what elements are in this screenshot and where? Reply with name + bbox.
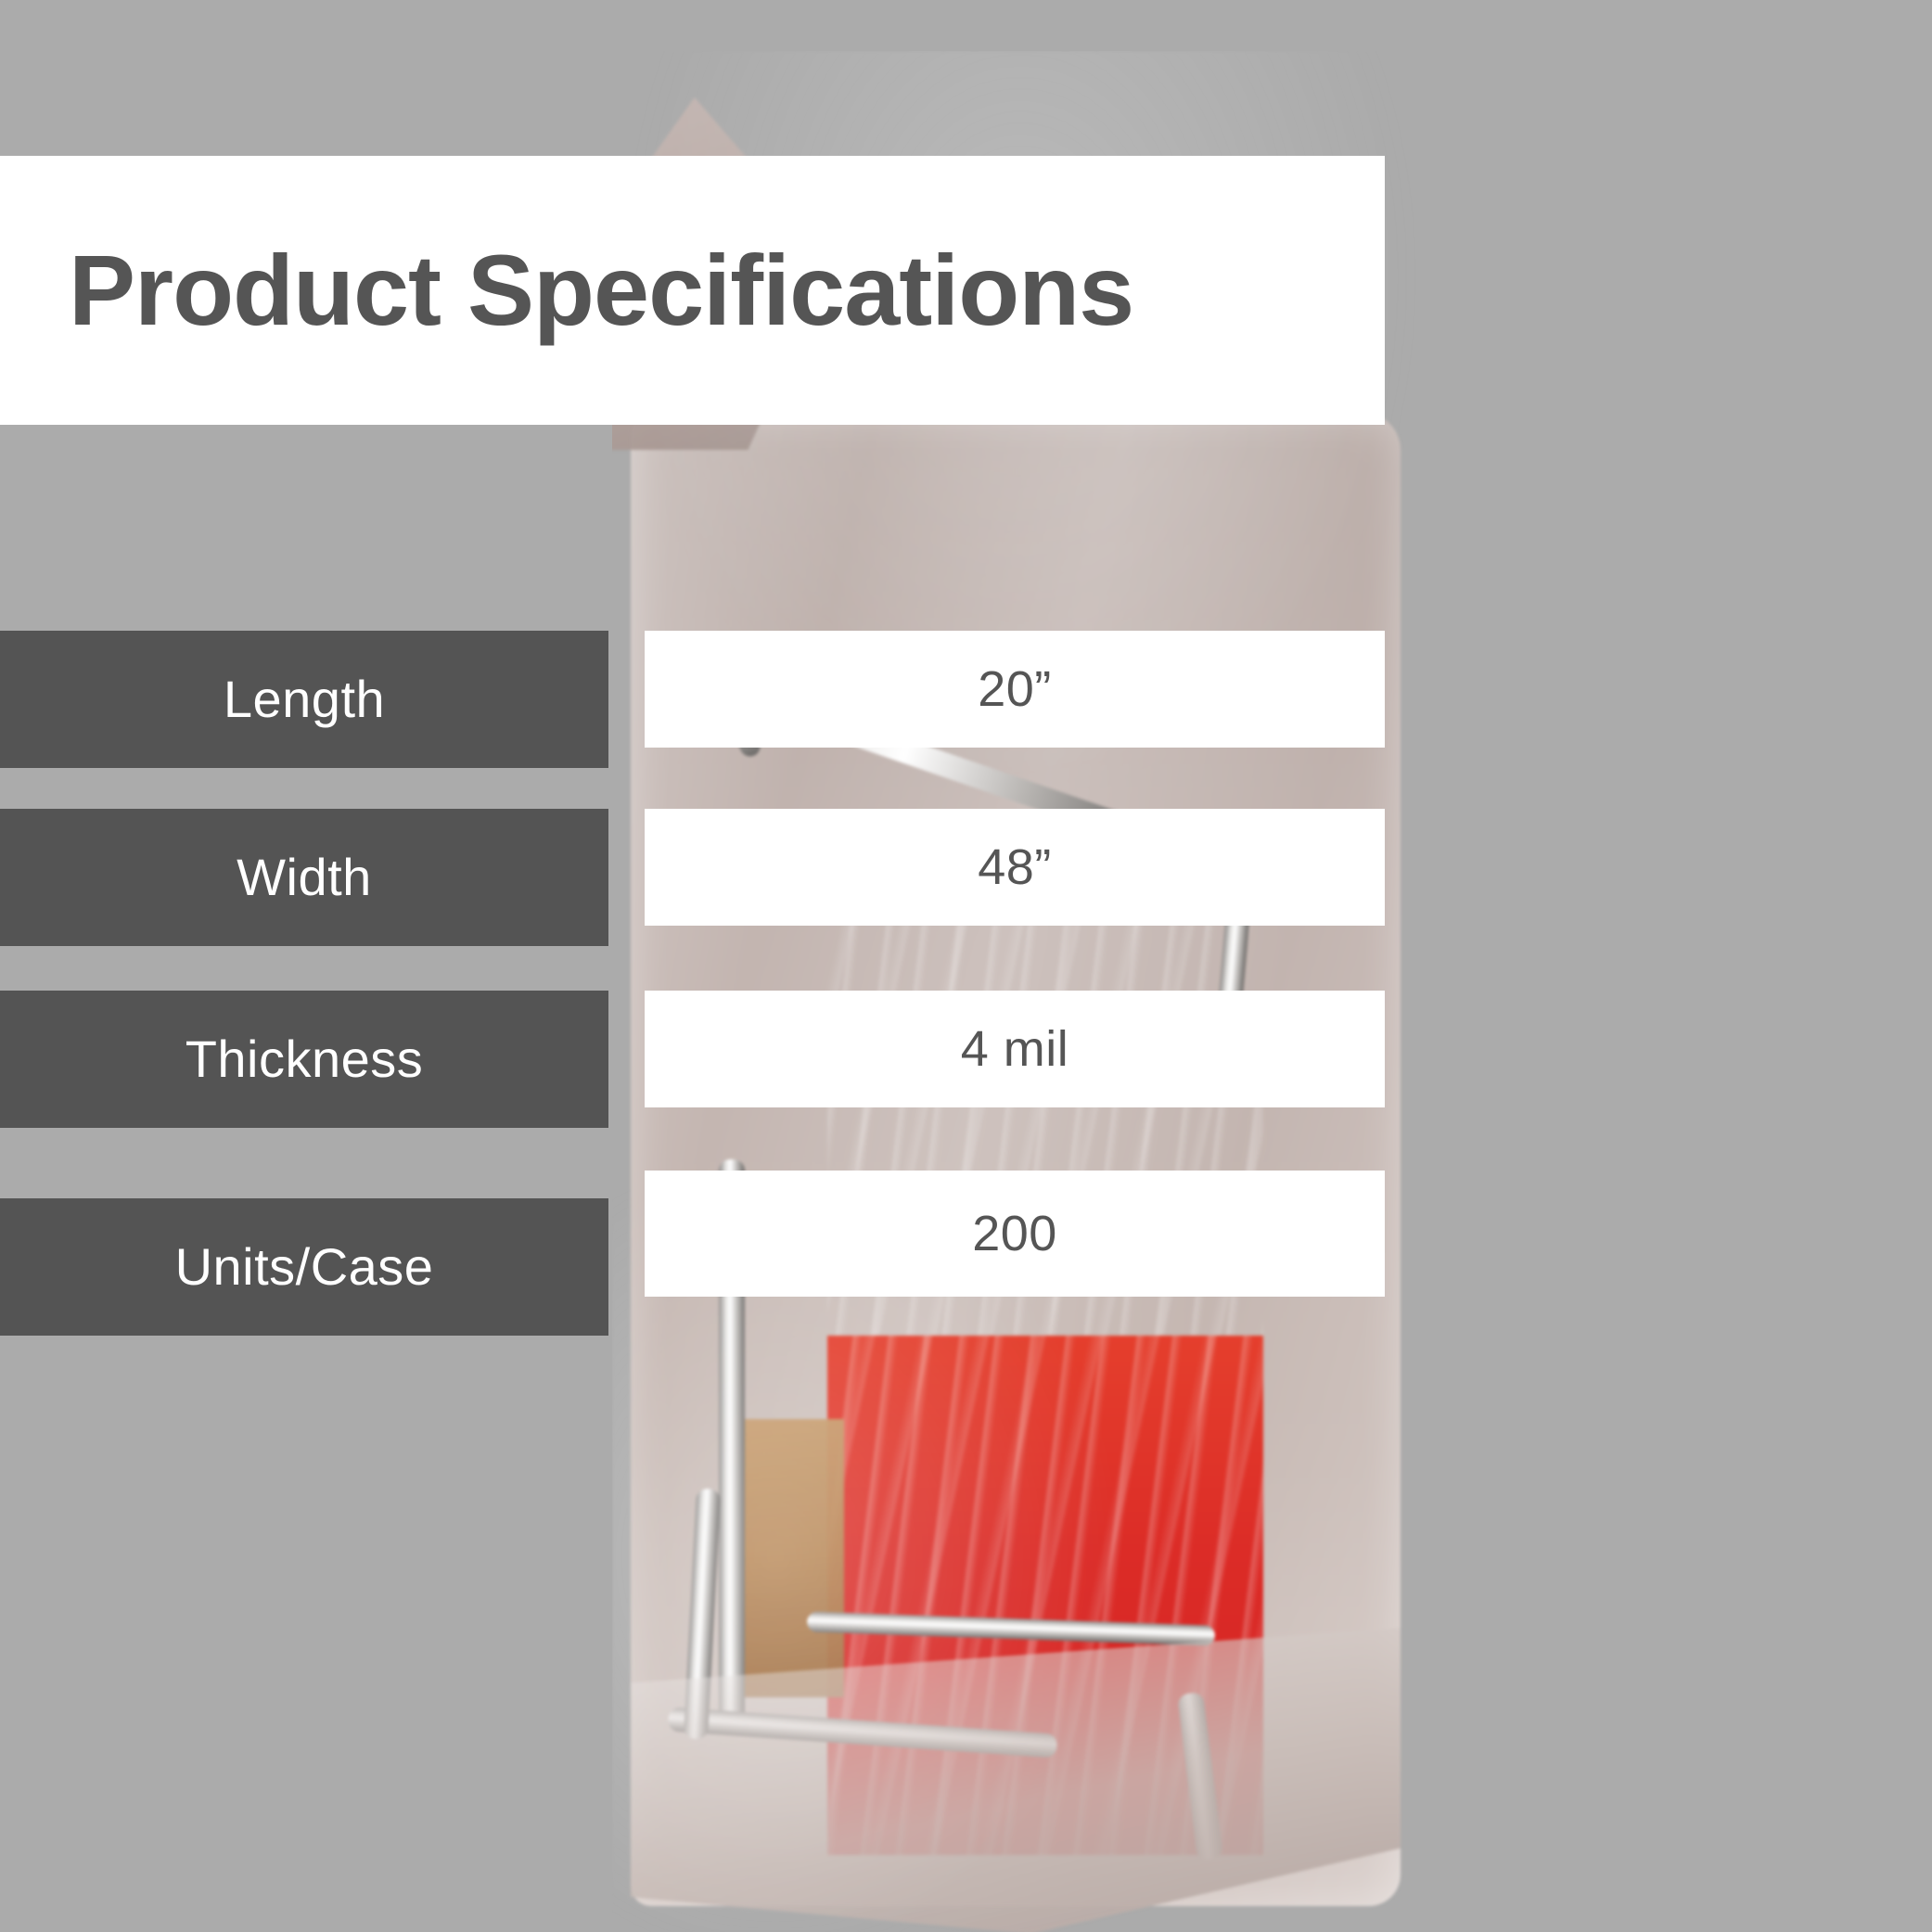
spec-value-cell: 4 mil bbox=[645, 991, 1385, 1107]
spec-value-text: 48” bbox=[978, 842, 1052, 892]
spec-label-text: Units/Case bbox=[175, 1241, 434, 1293]
spec-label-cell: Units/Case bbox=[0, 1198, 608, 1336]
page-root: Product Specifications Length 20” Width … bbox=[0, 0, 1932, 1932]
spec-label-text: Thickness bbox=[186, 1033, 424, 1085]
title-bar: Product Specifications bbox=[0, 156, 1385, 425]
spec-value-text: 4 mil bbox=[961, 1024, 1069, 1074]
spec-label-cell: Width bbox=[0, 809, 608, 946]
spec-value-cell: 200 bbox=[645, 1171, 1385, 1297]
spec-value-text: 200 bbox=[972, 1209, 1057, 1259]
tan-strap bbox=[742, 1419, 844, 1697]
spec-label-cell: Length bbox=[0, 631, 608, 768]
spec-label-cell: Thickness bbox=[0, 991, 608, 1128]
page-title: Product Specifications bbox=[69, 240, 1133, 340]
spec-value-cell: 20” bbox=[645, 631, 1385, 748]
spec-value-cell: 48” bbox=[645, 809, 1385, 926]
spec-value-text: 20” bbox=[978, 664, 1052, 714]
spec-label-text: Width bbox=[237, 851, 372, 903]
spec-label-text: Length bbox=[224, 673, 385, 725]
